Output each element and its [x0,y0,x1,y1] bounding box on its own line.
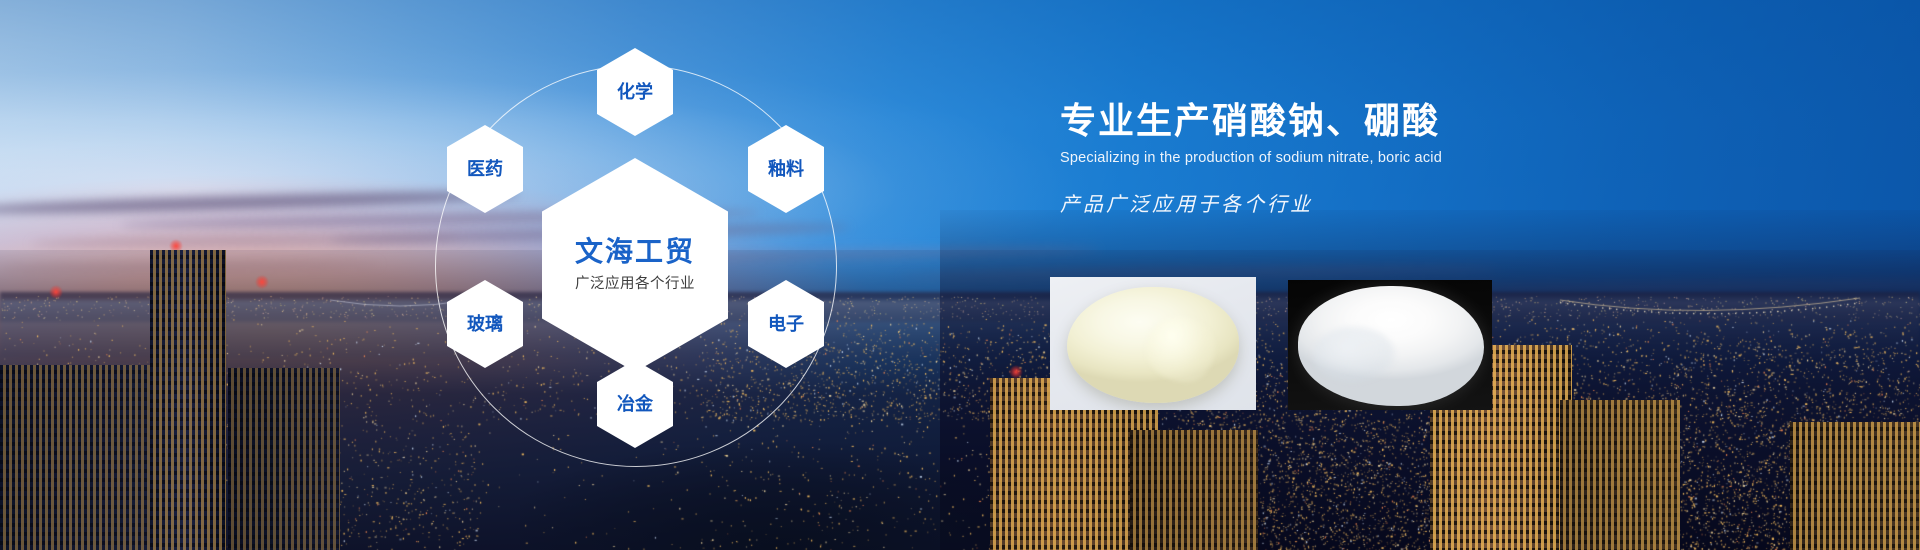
foreground-building-edge [1790,422,1920,550]
hexagon-label-chemical: 化学 [617,83,653,101]
tagline: 产品广泛应用于各个行业 [1060,188,1780,217]
tower-building [150,250,226,550]
headline-block: 专业生产硝酸钠、硼酸 Specializing in the productio… [1060,100,1780,217]
powder-pile-white [1298,286,1484,406]
left-mid-building [228,368,340,550]
brand-tagline: 广泛应用各个行业 [575,277,695,292]
left-block-building [0,365,150,550]
foreground-building-far-right [1560,400,1680,550]
product-photo-boric-acid[interactable] [1288,280,1492,410]
hexagon-label-electronics: 电子 [768,315,804,333]
hexagon-label-glaze: 釉料 [768,160,804,178]
brand-name: 文海工贸 [575,238,695,266]
headline: 专业生产硝酸钠、硼酸 [1060,100,1780,141]
hexagon-label-glass: 玻璃 [467,315,503,333]
promo-banner: 文海工贸 广泛应用各个行业 化学 釉料 电子 冶金 玻璃 医药 专业生产硝酸钠、… [0,0,1920,550]
hexagon-label-metallurgy: 冶金 [617,395,653,413]
industry-hexagon-diagram: 文海工贸 广泛应用各个行业 化学 釉料 电子 冶金 玻璃 医药 [400,20,1060,530]
powder-pile-cream [1067,287,1239,403]
product-photo-sodium-nitrate[interactable] [1050,277,1256,410]
foreground-building-mid [1130,430,1258,550]
hexagon-label-medicine: 医药 [467,160,503,178]
subheadline: Specializing in the production of sodium… [1060,150,1780,166]
